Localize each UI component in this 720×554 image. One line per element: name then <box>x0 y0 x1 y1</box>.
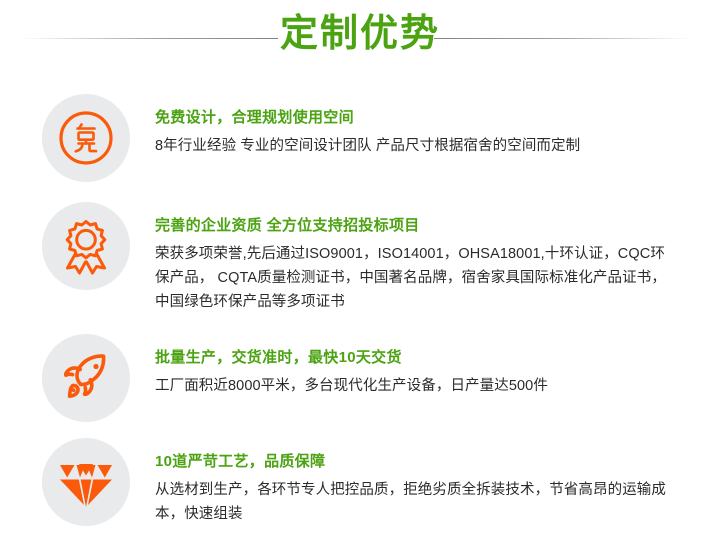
feature-heading: 免费设计，合理规划使用空间 <box>155 108 720 128</box>
feature-item-qualifications: 完善的企业资质 全方位支持招投标项目 荣获多项荣誉,先后通过ISO9001，IS… <box>0 202 720 314</box>
diamond-gem-icon <box>42 438 130 526</box>
feature-item-free-design: 免费设计，合理规划使用空间 8年行业经验 专业的空间设计团队 产品尺寸根据宿舍的… <box>0 94 720 182</box>
feature-text-block: 10道严苛工艺，品质保障 从选材到生产，各环节专人把控品质，拒绝劣质全拆装技术，… <box>130 438 720 526</box>
free-character-circle-icon <box>42 94 130 182</box>
feature-text-block: 免费设计，合理规划使用空间 8年行业经验 专业的空间设计团队 产品尺寸根据宿舍的… <box>130 94 720 158</box>
page-title: 定制优势 <box>0 8 720 60</box>
feature-description: 荣获多项荣誉,先后通过ISO9001，ISO14001，OHSA18001,十环… <box>155 242 675 314</box>
feature-heading: 完善的企业资质 全方位支持招投标项目 <box>155 216 720 236</box>
feature-description: 从选材到生产，各环节专人把控品质，拒绝劣质全拆装技术，节省高昂的运输成本，快速组… <box>155 478 675 526</box>
feature-description: 工厂面积近8000平米，多台现代化生产设备，日产量达500件 <box>155 374 675 398</box>
feature-heading: 10道严苛工艺，品质保障 <box>155 452 720 472</box>
feature-item-mass-production: 批量生产，交货准时，最快10天交货 工厂面积近8000平米，多台现代化生产设备，… <box>0 334 720 422</box>
feature-text-block: 批量生产，交货准时，最快10天交货 工厂面积近8000平米，多台现代化生产设备，… <box>130 334 720 398</box>
feature-description: 8年行业经验 专业的空间设计团队 产品尺寸根据宿舍的空间而定制 <box>155 134 675 158</box>
feature-heading: 批量生产，交货准时，最快10天交货 <box>155 348 720 368</box>
promo-page: 定制优势 免费设 <box>0 0 720 554</box>
feature-item-quality-craft: 10道严苛工艺，品质保障 从选材到生产，各环节专人把控品质，拒绝劣质全拆装技术，… <box>0 438 720 526</box>
page-title-block: 定制优势 <box>0 8 720 60</box>
rocket-icon <box>42 334 130 422</box>
award-badge-icon <box>42 202 130 290</box>
feature-text-block: 完善的企业资质 全方位支持招投标项目 荣获多项荣誉,先后通过ISO9001，IS… <box>130 202 720 314</box>
feature-list: 免费设计，合理规划使用空间 8年行业经验 专业的空间设计团队 产品尺寸根据宿舍的… <box>0 94 720 526</box>
